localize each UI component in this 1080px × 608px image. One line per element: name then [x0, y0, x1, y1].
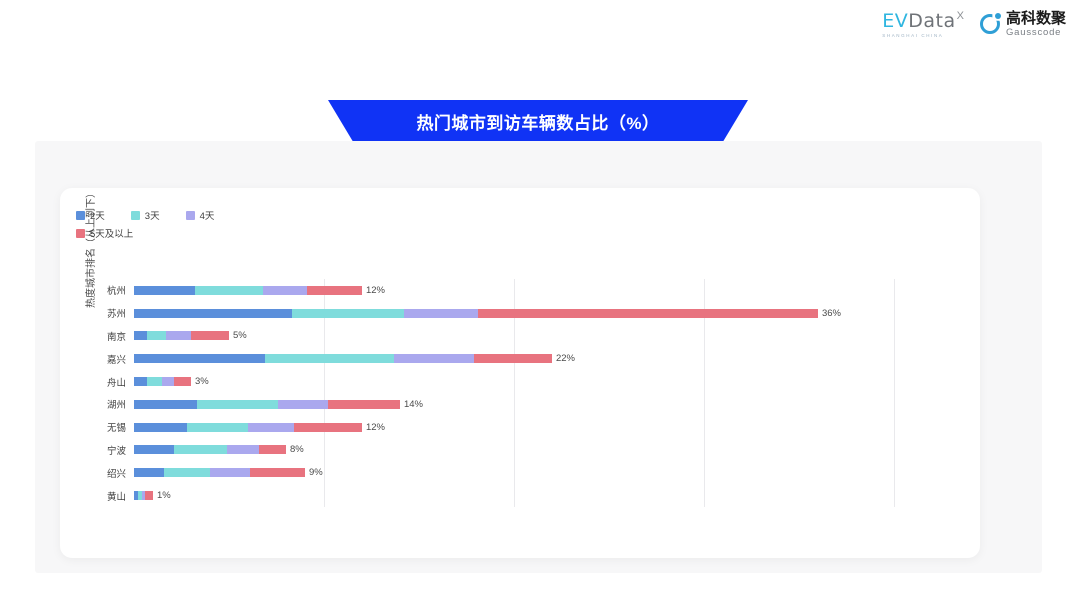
- gausscode-en-name: Gausscode: [1006, 28, 1066, 38]
- stacked-bar[interactable]: [134, 400, 400, 409]
- legend-label: 3天: [145, 208, 160, 222]
- stacked-bar[interactable]: [134, 423, 362, 432]
- chart-legend: 2天3天4天5天及以上: [76, 208, 376, 244]
- bar-segment-4天[interactable]: [394, 354, 474, 363]
- legend-row-2: 5天及以上: [76, 226, 376, 244]
- legend-swatch-icon: [131, 211, 140, 220]
- bar-wrapper: 22%: [134, 353, 970, 364]
- bar-segment-5天及以上[interactable]: [145, 491, 153, 500]
- y-axis-label: 苏州: [107, 306, 126, 320]
- bar-wrapper: 12%: [134, 285, 970, 296]
- bar-segment-3天[interactable]: [174, 445, 227, 454]
- bar-segment-3天[interactable]: [195, 286, 263, 295]
- bar-segment-4天[interactable]: [210, 468, 250, 477]
- bar-segment-3天[interactable]: [164, 468, 210, 477]
- stacked-bar-chart: 热度城市排名（从上到下） 杭州12%苏州36%南京5%嘉兴22%舟山3%湖州14…: [60, 265, 980, 525]
- bar-value-label: 12%: [366, 285, 385, 296]
- bar-row[interactable]: 南京5%: [134, 325, 970, 348]
- y-axis-label: 黄山: [107, 489, 126, 503]
- bar-value-label: 1%: [157, 490, 171, 501]
- gausscode-dot-icon: [995, 13, 1001, 19]
- bar-segment-4天[interactable]: [278, 400, 327, 409]
- bar-segment-4天[interactable]: [404, 309, 478, 318]
- evdata-prefix: EV: [882, 10, 908, 32]
- y-axis-label: 舟山: [107, 375, 126, 389]
- bar-segment-5天及以上[interactable]: [294, 423, 362, 432]
- bar-segment-2天[interactable]: [134, 400, 197, 409]
- y-axis-label: 杭州: [107, 283, 126, 297]
- bar-segment-4天[interactable]: [162, 377, 173, 386]
- evdata-subtitle: shanghai china: [882, 33, 943, 38]
- bar-segment-5天及以上[interactable]: [174, 377, 191, 386]
- legend-item-3天[interactable]: 3天: [131, 208, 160, 222]
- gausscode-logo: 高科数聚 Gausscode: [980, 11, 1066, 38]
- bar-wrapper: 14%: [134, 399, 970, 410]
- bar-row[interactable]: 无锡12%: [134, 416, 970, 439]
- bar-wrapper: 36%: [134, 308, 970, 319]
- legend-swatch-icon: [186, 211, 195, 220]
- bar-wrapper: 12%: [134, 422, 970, 433]
- bar-row[interactable]: 宁波8%: [134, 439, 970, 462]
- bar-row[interactable]: 嘉兴22%: [134, 347, 970, 370]
- y-axis-label: 南京: [107, 329, 126, 343]
- bar-segment-3天[interactable]: [147, 377, 162, 386]
- bar-segment-3天[interactable]: [147, 331, 166, 340]
- plot-area: 杭州12%苏州36%南京5%嘉兴22%舟山3%湖州14%无锡12%宁波8%绍兴9…: [134, 279, 970, 507]
- bar-wrapper: 1%: [134, 490, 970, 501]
- bar-segment-3天[interactable]: [187, 423, 248, 432]
- bar-wrapper: 9%: [134, 467, 970, 478]
- bar-segment-3天[interactable]: [197, 400, 279, 409]
- bar-segment-5天及以上[interactable]: [474, 354, 552, 363]
- bar-segment-2天[interactable]: [134, 354, 265, 363]
- stacked-bar[interactable]: [134, 331, 229, 340]
- stacked-bar[interactable]: [134, 491, 153, 500]
- bar-segment-2天[interactable]: [134, 286, 195, 295]
- page-title: 热门城市到访车辆数占比（%）: [416, 109, 659, 134]
- stacked-bar[interactable]: [134, 354, 552, 363]
- bar-segment-2天[interactable]: [134, 423, 187, 432]
- logo-bar: EVDataX shanghai china 高科数聚 Gausscode: [882, 10, 1066, 38]
- y-axis-label: 湖州: [107, 397, 126, 411]
- bar-value-label: 22%: [556, 353, 575, 364]
- bar-value-label: 5%: [233, 330, 247, 341]
- bar-segment-2天[interactable]: [134, 331, 147, 340]
- gausscode-cn-name: 高科数聚: [1006, 11, 1066, 26]
- y-axis-label: 无锡: [107, 420, 126, 434]
- stacked-bar[interactable]: [134, 377, 191, 386]
- title-ribbon: 热门城市到访车辆数占比（%）: [328, 100, 748, 142]
- legend-item-4天[interactable]: 4天: [186, 208, 215, 222]
- y-axis-label: 绍兴: [107, 466, 126, 480]
- y-axis-title: 热度城市排名（从上到下）: [82, 173, 97, 323]
- bar-segment-5天及以上[interactable]: [307, 286, 362, 295]
- stacked-bar[interactable]: [134, 445, 286, 454]
- bar-value-label: 9%: [309, 467, 323, 478]
- bar-segment-4天[interactable]: [166, 331, 191, 340]
- bar-wrapper: 3%: [134, 376, 970, 387]
- y-axis-label: 宁波: [107, 443, 126, 457]
- bar-segment-5天及以上[interactable]: [250, 468, 305, 477]
- bar-segment-3天[interactable]: [265, 354, 394, 363]
- bar-value-label: 12%: [366, 422, 385, 433]
- bar-segment-5天及以上[interactable]: [259, 445, 286, 454]
- bar-value-label: 14%: [404, 399, 423, 410]
- bar-segment-4天[interactable]: [263, 286, 307, 295]
- bar-row[interactable]: 舟山3%: [134, 370, 970, 393]
- bar-wrapper: 8%: [134, 444, 970, 455]
- bar-value-label: 36%: [822, 308, 841, 319]
- bar-segment-4天[interactable]: [227, 445, 259, 454]
- bar-segment-3天[interactable]: [292, 309, 404, 318]
- bar-segment-2天[interactable]: [134, 309, 292, 318]
- legend-label: 4天: [200, 208, 215, 222]
- stacked-bar[interactable]: [134, 468, 305, 477]
- stacked-bar[interactable]: [134, 309, 818, 318]
- gausscode-mark-icon: [980, 14, 1000, 34]
- evdata-wordmark: EVDataX: [882, 10, 964, 32]
- bar-wrapper: 5%: [134, 330, 970, 341]
- bar-row[interactable]: 绍兴9%: [134, 461, 970, 484]
- bar-segment-2天[interactable]: [134, 377, 147, 386]
- evdata-superscript-icon: X: [957, 10, 964, 22]
- y-axis-label: 嘉兴: [107, 352, 126, 366]
- bar-segment-5天及以上[interactable]: [328, 400, 400, 409]
- evdata-suffix: Data: [908, 10, 955, 32]
- evdata-logo: EVDataX shanghai china: [882, 10, 964, 38]
- bar-segment-4天[interactable]: [248, 423, 294, 432]
- bar-row[interactable]: 湖州14%: [134, 393, 970, 416]
- stacked-bar[interactable]: [134, 286, 362, 295]
- bar-segment-2天[interactable]: [134, 468, 164, 477]
- title-ribbon-container: 热门城市到访车辆数占比（%）: [0, 100, 1080, 144]
- gausscode-text: 高科数聚 Gausscode: [1006, 11, 1066, 38]
- legend-row-1: 2天3天4天: [76, 208, 376, 226]
- bar-segment-5天及以上[interactable]: [191, 331, 229, 340]
- bar-row[interactable]: 苏州36%: [134, 302, 970, 325]
- bar-row[interactable]: 黄山1%: [134, 484, 970, 507]
- bar-value-label: 8%: [290, 444, 304, 455]
- bar-value-label: 3%: [195, 376, 209, 387]
- bar-segment-2天[interactable]: [134, 445, 174, 454]
- bar-row[interactable]: 杭州12%: [134, 279, 970, 302]
- bar-rows: 杭州12%苏州36%南京5%嘉兴22%舟山3%湖州14%无锡12%宁波8%绍兴9…: [134, 279, 970, 507]
- bar-segment-5天及以上[interactable]: [478, 309, 818, 318]
